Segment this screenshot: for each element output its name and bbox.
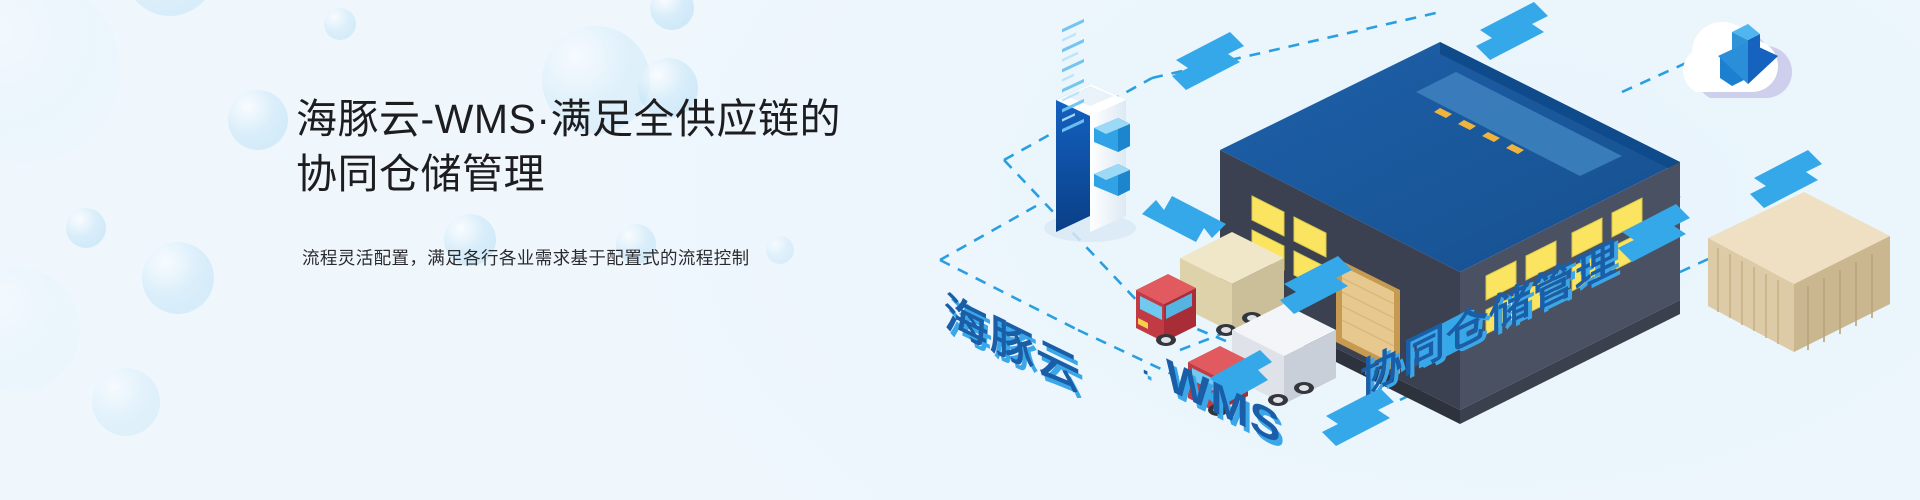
bubble-5 (142, 242, 214, 314)
page-subtitle: 流程灵活配置，满足各行各业需求基于配置式的流程控制 (302, 245, 936, 271)
warehouse-illustration: 海豚云 海豚云 · · WMS WMS 协同仓储管理 协同仓储管理 (880, 0, 1920, 500)
illustration-svg: 海豚云 海豚云 · · WMS WMS 协同仓储管理 协同仓储管理 (880, 0, 1920, 500)
server-rack-icon (1044, 19, 1136, 242)
label-left-sep: · (1142, 357, 1151, 389)
bubble-12 (92, 368, 160, 436)
banner-copy: 海豚云-WMS·满足全供应链的 协同仓储管理 流程灵活配置，满足各行各业需求基于… (296, 92, 936, 271)
bubble-2 (228, 90, 288, 150)
bubble-0 (124, 0, 216, 16)
cloud-download-icon (1683, 22, 1792, 98)
bubble-11 (324, 8, 356, 40)
bubble-6 (0, 268, 80, 392)
bubble-3 (650, 0, 694, 30)
page-title: 海豚云-WMS·满足全供应链的 协同仓储管理 (296, 92, 936, 201)
bubble-1 (0, 0, 120, 162)
bubble-4 (66, 208, 106, 248)
label-left-text-front: 海豚云 (944, 287, 1082, 401)
hero-banner: 海豚云-WMS·满足全供应链的 协同仓储管理 流程灵活配置，满足各行各业需求基于… (0, 0, 1920, 500)
shipping-container (1708, 192, 1890, 352)
